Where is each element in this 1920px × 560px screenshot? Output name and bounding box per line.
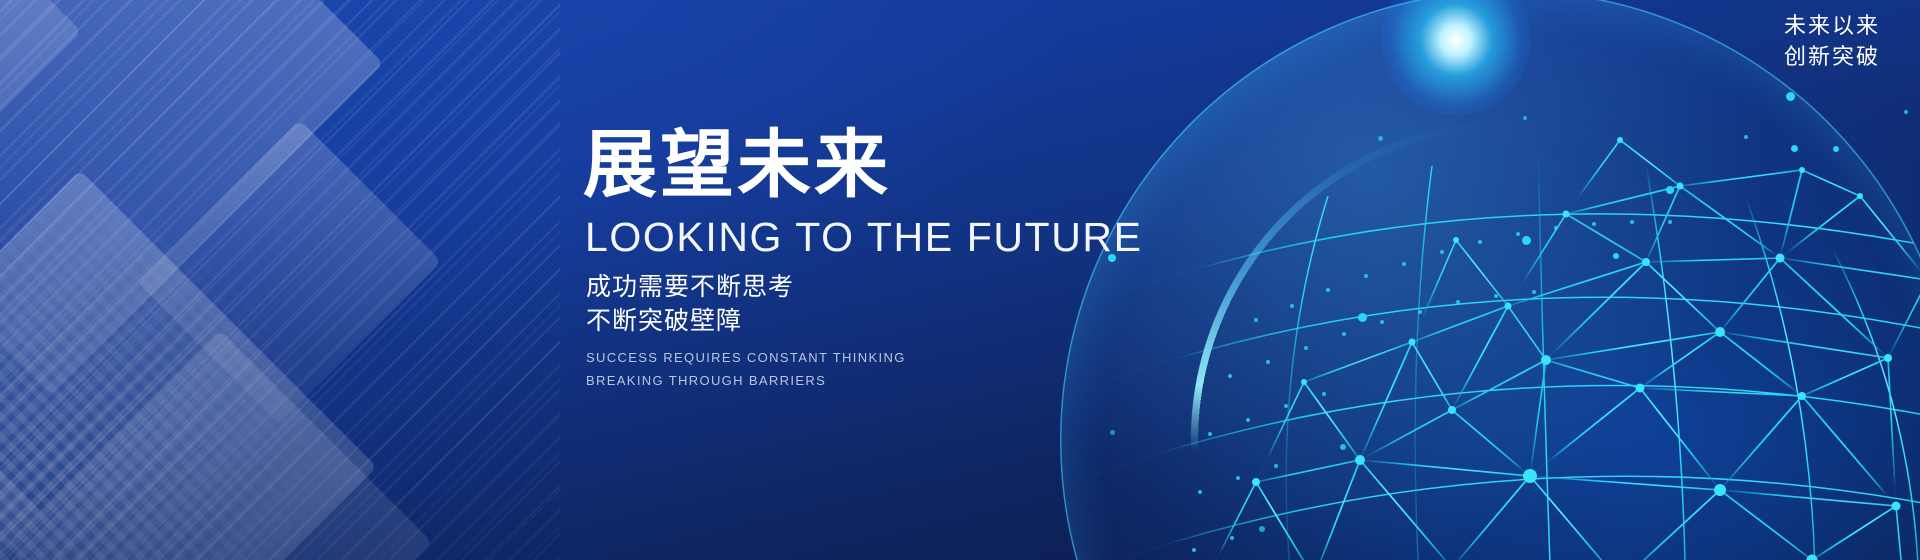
particle-dot bbox=[1904, 110, 1908, 114]
particle-dot bbox=[1613, 253, 1619, 259]
particle-dot bbox=[1744, 135, 1748, 139]
subtitle-cn-line1: 成功需要不断思考 bbox=[586, 271, 1223, 305]
subtitle-en-line2: BREAKING THROUGH BARRIERS bbox=[586, 370, 1223, 392]
decor-slab-4 bbox=[137, 120, 441, 424]
globe-sun-flare-icon bbox=[1381, 0, 1531, 115]
particle-dot bbox=[1833, 146, 1839, 152]
particle-dot bbox=[1666, 186, 1674, 194]
particle-dot bbox=[1786, 92, 1795, 101]
page-title-cn: 展望未来 bbox=[583, 128, 1223, 202]
dot-grid-texture bbox=[0, 135, 425, 560]
diagonal-line-pattern bbox=[0, 0, 560, 560]
particle-dot bbox=[1340, 444, 1346, 450]
decor-slab-6 bbox=[8, 330, 432, 560]
headline-block: 展望未来 LOOKING TO THE FUTURE 成功需要不断思考 不断突破… bbox=[583, 128, 1223, 392]
corner-tagline-line2: 创新突破 bbox=[1784, 41, 1880, 72]
corner-tagline-line1: 未来以来 bbox=[1784, 10, 1880, 41]
decor-slab-1 bbox=[0, 0, 383, 396]
subtitle-cn: 成功需要不断思考 不断突破壁障 bbox=[586, 271, 1223, 338]
particle-dot bbox=[1110, 430, 1115, 435]
particle-dot bbox=[1791, 145, 1798, 152]
diagonal-line-pattern-alt bbox=[0, 0, 560, 560]
particle-dot bbox=[1358, 313, 1367, 322]
subtitle-en-line1: SUCCESS REQUIRES CONSTANT THINKING bbox=[586, 347, 1223, 369]
particle-dot bbox=[1259, 526, 1265, 532]
particle-dot bbox=[1522, 236, 1531, 245]
subtitle-en: SUCCESS REQUIRES CONSTANT THINKING BREAK… bbox=[586, 347, 1223, 392]
subtitle-cn-line2: 不断突破壁障 bbox=[586, 305, 1223, 339]
page-title-en: LOOKING TO THE FUTURE bbox=[585, 215, 1223, 259]
decor-slab-3 bbox=[0, 170, 377, 560]
left-geometric-artwork bbox=[0, 0, 560, 560]
decor-slab-5 bbox=[0, 300, 42, 560]
hero-banner: 未来以来 创新突破 展望未来 LOOKING TO THE FUTURE 成功需… bbox=[0, 0, 1920, 560]
corner-tagline: 未来以来 创新突破 bbox=[1784, 10, 1880, 72]
particle-dot bbox=[1523, 116, 1527, 120]
particle-dot bbox=[1378, 136, 1383, 141]
decor-slab-2 bbox=[0, 0, 81, 427]
